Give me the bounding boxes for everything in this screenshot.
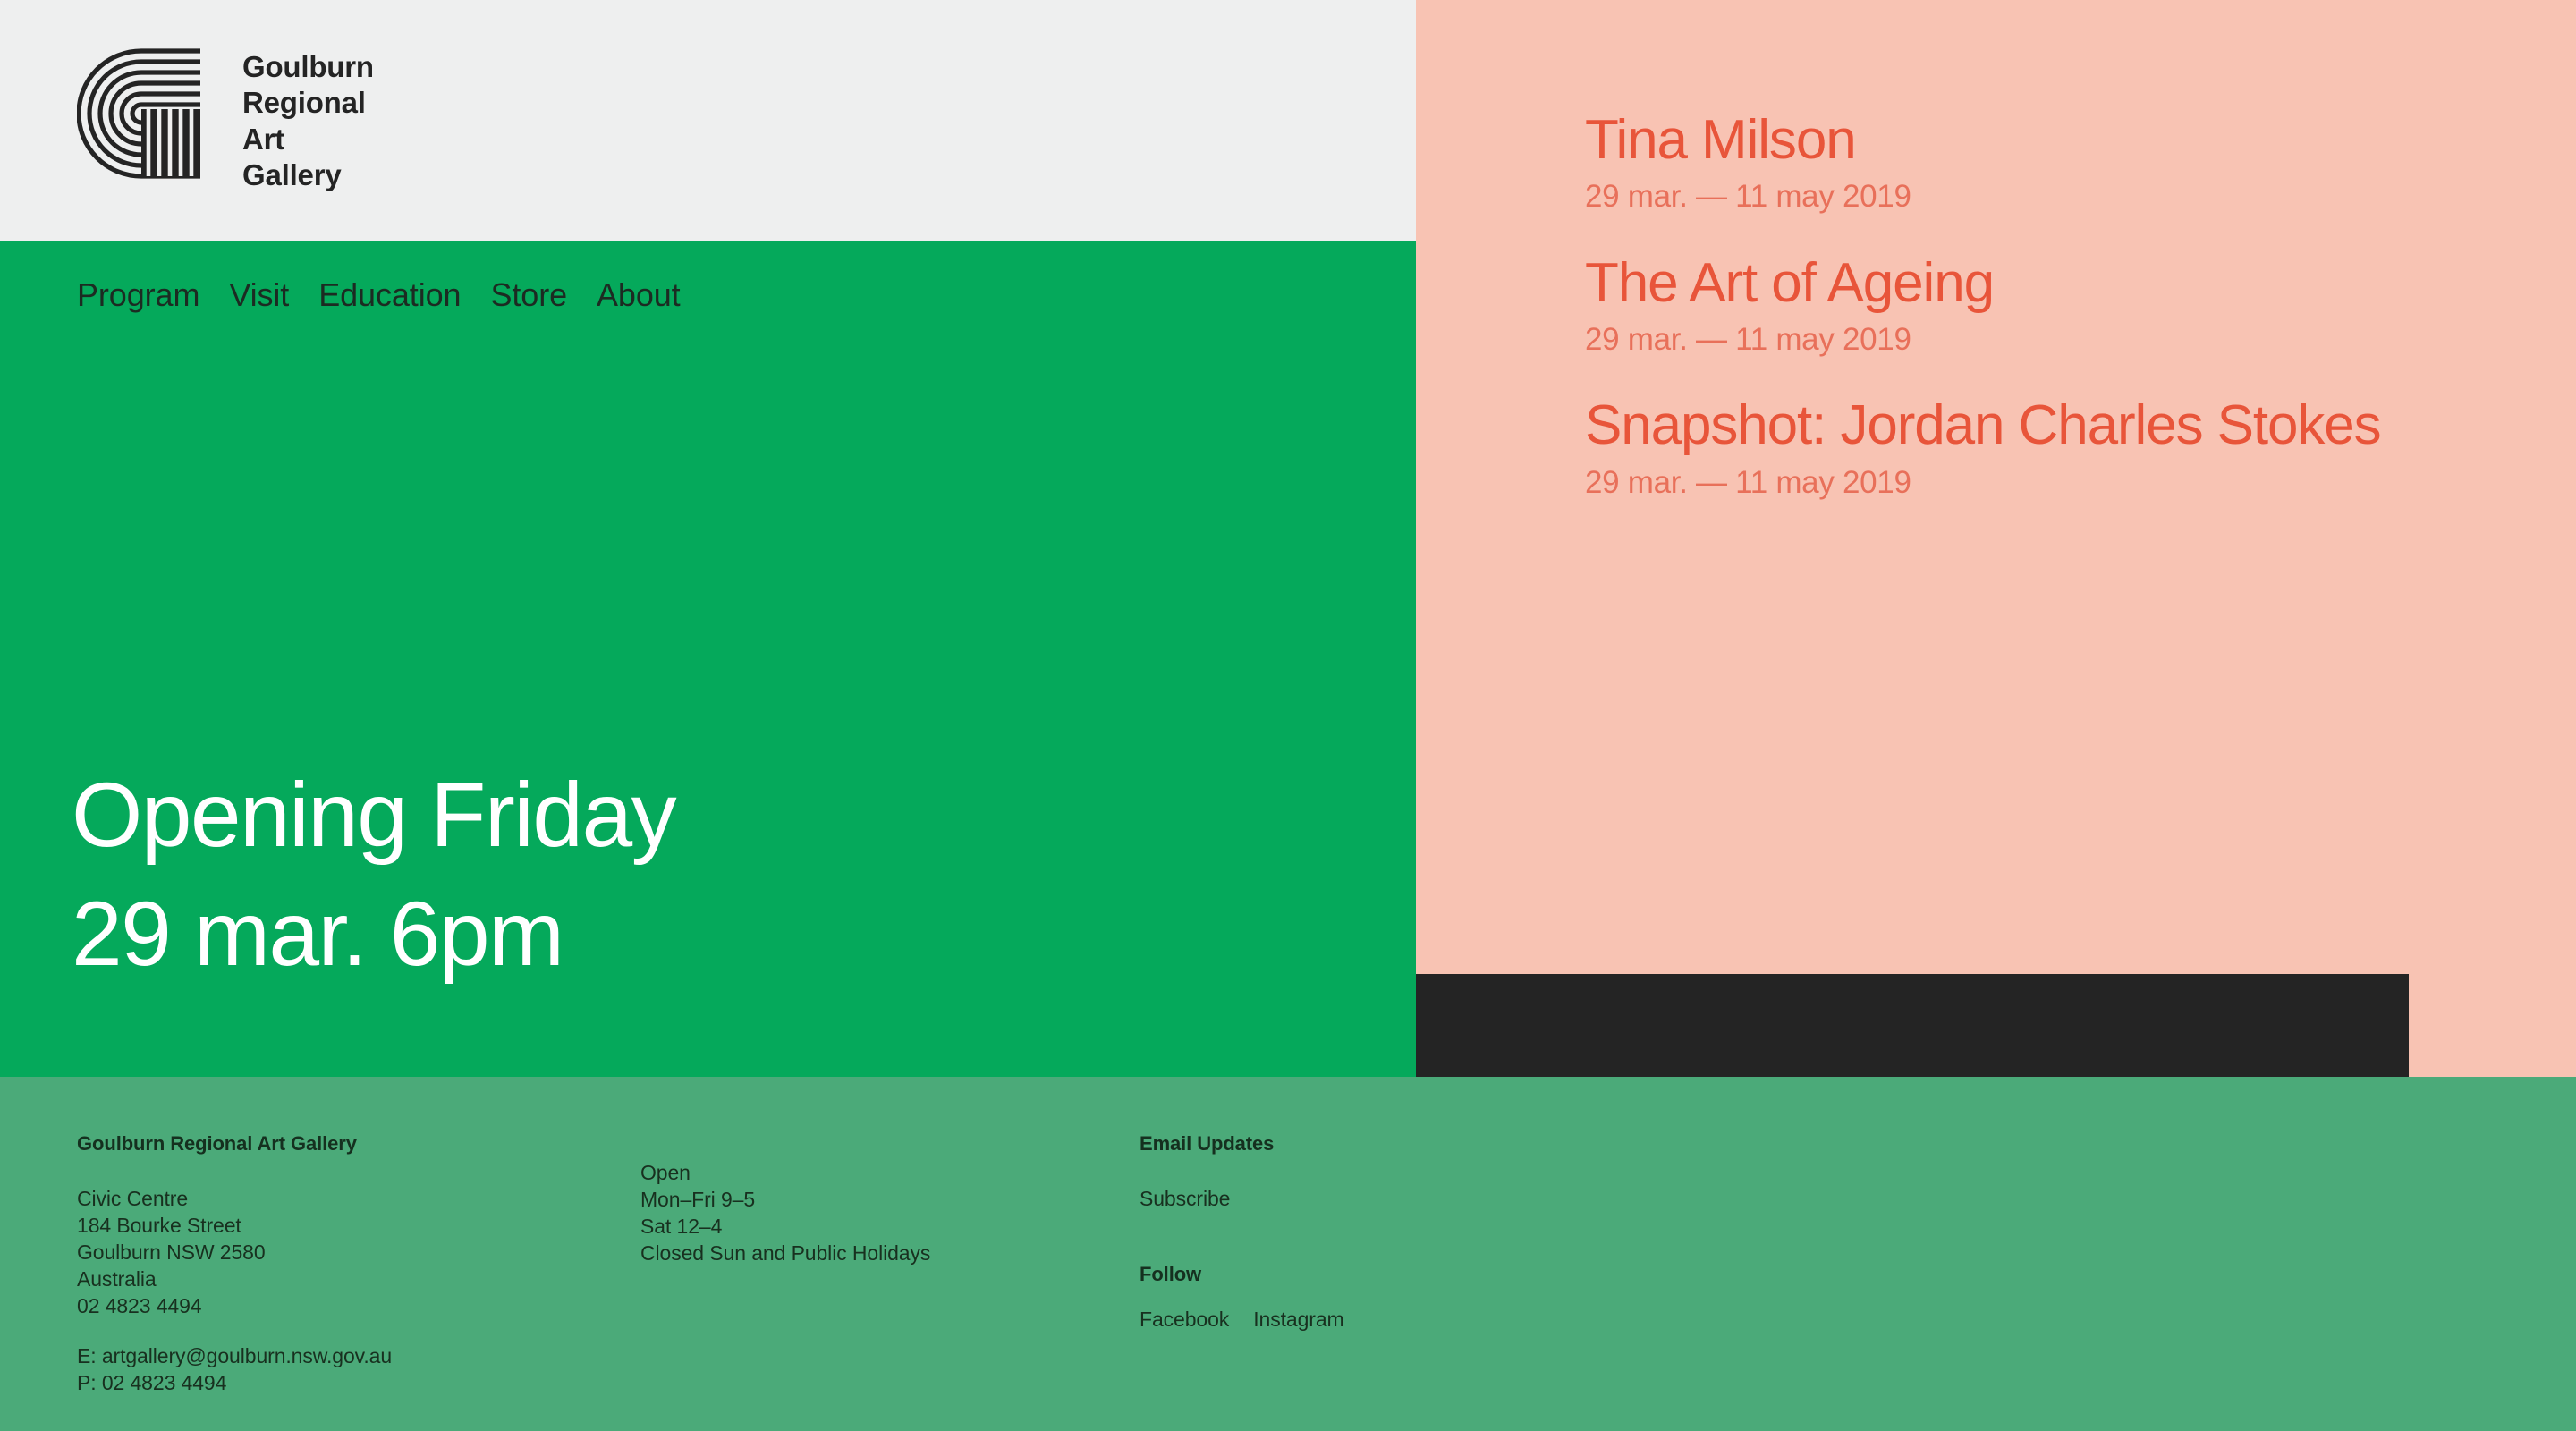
primary-navigation[interactable]: Program Visit Education Store About [77, 279, 681, 311]
page-root: Goulburn Regional Art Gallery Program Vi… [0, 0, 2576, 1431]
nav-item-education[interactable]: Education [318, 279, 461, 311]
footer-columns: Goulburn Regional Art Gallery Civic Cent… [0, 1077, 2576, 1431]
goulburn-g-logo-icon[interactable] [77, 47, 202, 181]
hero-headline: Opening Friday 29 mar. 6pm [72, 756, 675, 993]
exhibition-title[interactable]: Tina Milson [1585, 109, 2533, 171]
exhibition-dates: 29 mar. — 11 may 2019 [1585, 462, 2533, 504]
footer-address: Civic Centre 184 Bourke Street Goulburn … [77, 1186, 614, 1319]
footer-follow-heading: Follow [1140, 1263, 1605, 1286]
footer-social-links: Facebook Instagram [1140, 1307, 1605, 1334]
exhibition-item[interactable]: Snapshot: Jordan Charles Stokes 29 mar. … [1585, 394, 2533, 504]
footer-subscribe-link[interactable]: Subscribe [1140, 1186, 1605, 1213]
logo-wordmark: Goulburn Regional Art Gallery [242, 47, 374, 193]
footer-email-link[interactable]: E: artgallery@goulburn.nsw.gov.au [77, 1343, 614, 1370]
masthead[interactable]: Goulburn Regional Art Gallery [77, 47, 374, 193]
spacer [77, 1320, 614, 1343]
nav-item-about[interactable]: About [597, 279, 681, 311]
nav-item-program[interactable]: Program [77, 279, 199, 311]
spacer [1140, 1213, 1605, 1263]
nav-item-store[interactable]: Store [490, 279, 567, 311]
footer-connect-column: Email Updates Subscribe Follow Facebook … [1140, 1132, 1605, 1334]
footer-facebook-link[interactable]: Facebook [1140, 1307, 1229, 1334]
exhibition-dates: 29 mar. — 11 may 2019 [1585, 176, 2533, 217]
footer-hours-column: Open Mon–Fri 9–5 Sat 12–4 Closed Sun and… [640, 1132, 1052, 1267]
spacer [1140, 1156, 1605, 1186]
exhibition-title[interactable]: Snapshot: Jordan Charles Stokes [1585, 394, 2533, 456]
footer-opening-hours: Open Mon–Fri 9–5 Sat 12–4 Closed Sun and… [640, 1160, 1052, 1267]
footer-contact-heading: Goulburn Regional Art Gallery [77, 1132, 614, 1156]
spacer [77, 1156, 614, 1186]
exhibition-dates: 29 mar. — 11 may 2019 [1585, 319, 2533, 360]
footer-phone: P: 02 4823 4494 [77, 1370, 614, 1397]
footer-instagram-link[interactable]: Instagram [1253, 1307, 1343, 1334]
footer-contact-column: Goulburn Regional Art Gallery Civic Cent… [77, 1132, 614, 1397]
exhibition-title[interactable]: The Art of Ageing [1585, 252, 2533, 314]
footer-email-updates-heading: Email Updates [1140, 1132, 1605, 1156]
dark-accent-block [1416, 974, 2409, 1077]
exhibition-item[interactable]: Tina Milson 29 mar. — 11 may 2019 [1585, 109, 2533, 218]
spacer [1140, 1287, 1605, 1307]
nav-item-visit[interactable]: Visit [229, 279, 289, 311]
exhibition-item[interactable]: The Art of Ageing 29 mar. — 11 may 2019 [1585, 252, 2533, 361]
exhibitions-list: Tina Milson 29 mar. — 11 may 2019 The Ar… [1585, 109, 2533, 504]
